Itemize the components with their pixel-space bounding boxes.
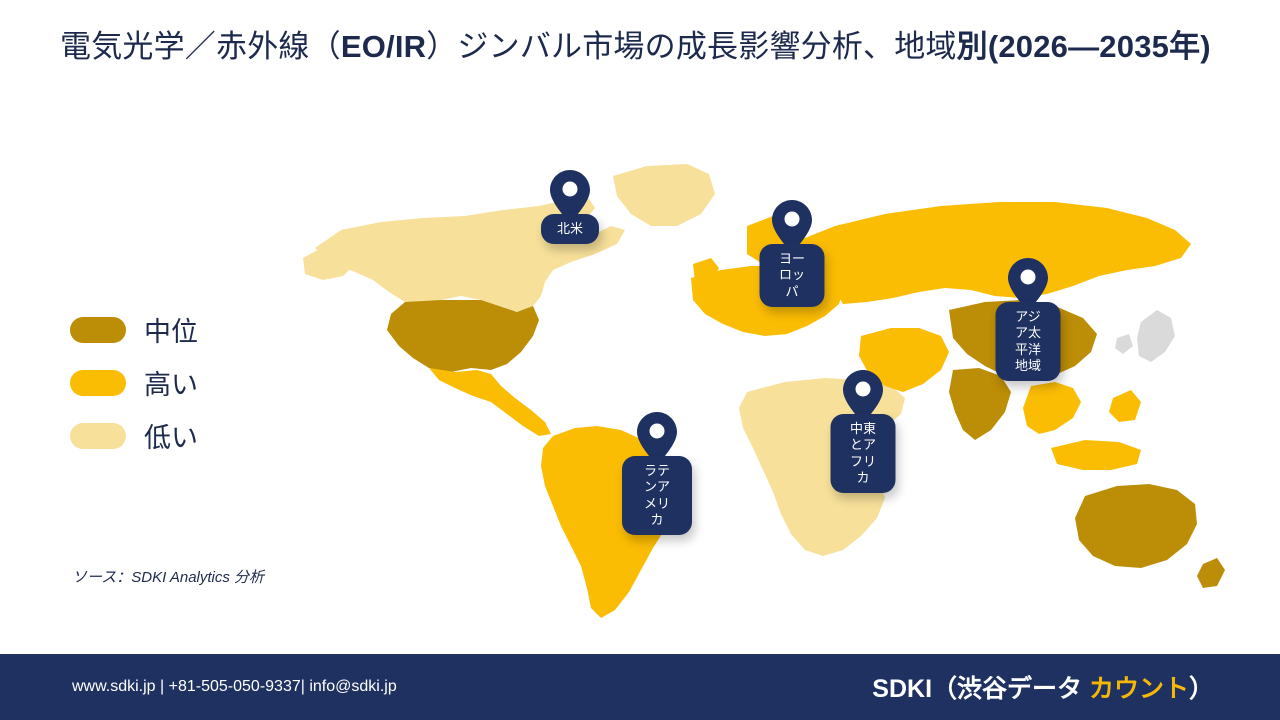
legend-swatch-high: [70, 370, 126, 396]
region-russia: [795, 202, 1191, 304]
region-australia: [1075, 484, 1197, 568]
footer-brand-close: ）: [1189, 675, 1214, 703]
region-japan: [1137, 310, 1175, 362]
map-pin-label-europe: ヨーロッパ: [760, 244, 825, 307]
title-line1-pre: 電気光学／赤外線（: [60, 29, 341, 64]
region-new-zealand: [1197, 558, 1225, 588]
world-map: 北米 ヨーロッパ アジア太平洋 地域 中東 とアフリカ ラテンアメリカ: [295, 130, 1230, 640]
legend-item-high: 高い: [70, 363, 198, 402]
region-indonesia: [1051, 440, 1141, 470]
legend-label-mid: 中位: [144, 310, 198, 349]
region-alaska: [303, 246, 355, 280]
page-title: 電気光学／赤外線（EO/IR）ジンバル市場の成長影響分析、地域別(2026—20…: [60, 26, 1220, 68]
region-korea: [1115, 334, 1133, 354]
map-pin-label-middle-east-africa: 中東 とアフリカ: [831, 414, 896, 493]
footer-brand-main: SDKI（渋谷データ: [872, 675, 1089, 703]
legend-label-high: 高い: [144, 363, 198, 402]
title-line1-bold: EO/IR: [341, 29, 426, 64]
region-greenland: [613, 164, 715, 226]
region-philippines: [1109, 390, 1141, 422]
legend-swatch-mid: [70, 317, 126, 343]
legend-swatch-low: [70, 423, 126, 449]
title-line2-bold: 別(2026—2035年): [957, 29, 1211, 64]
legend-item-mid: 中位: [70, 310, 198, 349]
footer-brand: SDKI（渋谷データ カウント）: [872, 669, 1214, 705]
legend-item-low: 低い: [70, 416, 198, 455]
region-mexico: [429, 368, 551, 436]
map-pin-label-latin-america: ラテンアメリカ: [622, 456, 692, 535]
footer-brand-accent: カウント: [1089, 675, 1189, 703]
map-shapes: [303, 164, 1225, 618]
legend-label-low: 低い: [144, 416, 198, 455]
title-line1-post: ）ジンバル市場の成長影響分析、地域: [426, 29, 956, 64]
map-pin-label-north-america: 北米: [541, 214, 599, 244]
footer-bar: www.sdki.jp | +81-505-050-9337| info@sdk…: [0, 654, 1280, 720]
map-pin-label-asia-pacific: アジア太平洋 地域: [996, 302, 1061, 381]
source-note: ソース：SDKI Analytics 分析: [72, 566, 264, 587]
legend: 中位 高い 低い: [70, 310, 198, 469]
slide-root: 電気光学／赤外線（EO/IR）ジンバル市場の成長影響分析、地域別(2026—20…: [0, 0, 1280, 720]
region-sea: [1023, 382, 1081, 434]
footer-contact[interactable]: www.sdki.jp | +81-505-050-9337| info@sdk…: [72, 678, 397, 696]
